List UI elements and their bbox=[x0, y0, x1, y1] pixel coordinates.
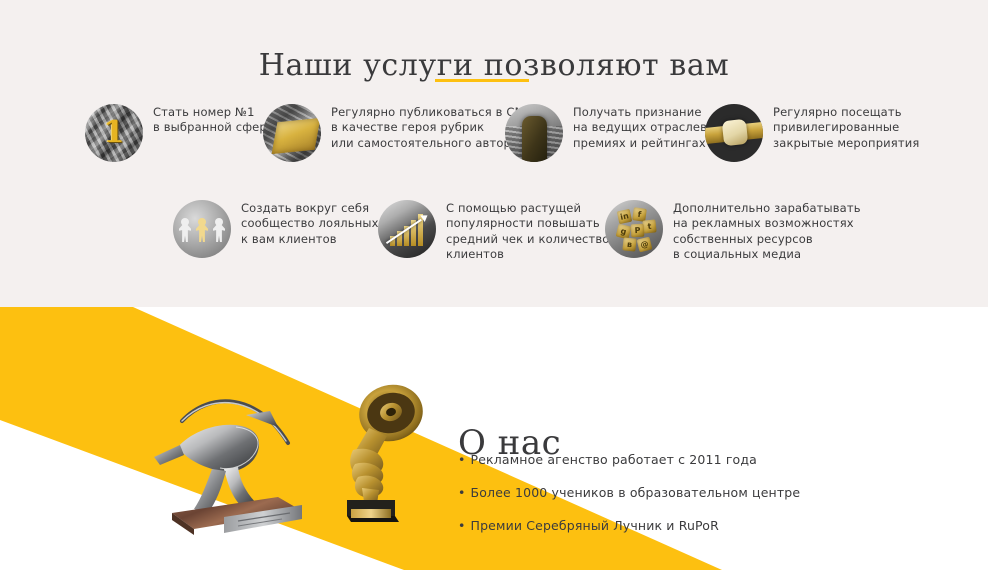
paper-person-center bbox=[196, 218, 208, 242]
bullet-marker: • bbox=[458, 452, 466, 467]
paper-people-community-icon bbox=[173, 200, 231, 258]
service-line: С помощью растущей bbox=[446, 201, 609, 216]
service-line: Стать номер №1 bbox=[153, 105, 274, 120]
service-item-5-text: Создать вокруг себя сообщество лояльных … bbox=[241, 200, 379, 247]
paper-person-left bbox=[179, 218, 191, 242]
list-item-text: Рекламное агенство работает с 2011 года bbox=[471, 452, 757, 467]
list-item-text: Премии Серебряный Лучник и RuPoR bbox=[471, 518, 719, 533]
service-item-2[interactable]: Регулярно публиковаться в СМИ: в качеств… bbox=[263, 104, 537, 162]
list-item: •Более 1000 учеников в образовательном ц… bbox=[458, 485, 928, 500]
paper-person-right bbox=[213, 218, 225, 242]
service-item-1[interactable]: 1 Стать номер №1 в выбранной сфере bbox=[85, 104, 274, 162]
service-line: в социальных медиа bbox=[673, 247, 861, 262]
bullet-marker: • bbox=[458, 518, 466, 533]
service-item-5[interactable]: Создать вокруг себя сообщество лояльных … bbox=[173, 200, 379, 258]
services-section: Наши услуги позволяют вам 1 Стать номер … bbox=[0, 0, 988, 307]
service-line: премиях и рейтингах bbox=[573, 136, 723, 151]
gold-watch-icon bbox=[705, 104, 763, 162]
slide-root: Наши услуги позволяют вам 1 Стать номер … bbox=[0, 0, 988, 570]
award-ceremony-man-icon bbox=[505, 104, 563, 162]
services-row-1: 1 Стать номер №1 в выбранной сфере Регул… bbox=[0, 104, 988, 166]
service-item-7[interactable]: inft gPв @ Дополнительно зарабатывать на… bbox=[605, 200, 861, 263]
service-line: Регулярно посещать bbox=[773, 105, 919, 120]
service-item-4-text: Регулярно посещать привилегированные зак… bbox=[773, 104, 919, 151]
services-row-2: Создать вокруг себя сообщество лояльных … bbox=[0, 200, 988, 275]
service-line: на ведущих отраслевых bbox=[573, 120, 723, 135]
title-underline-accent bbox=[435, 79, 529, 82]
numeral-one-glyph: 1 bbox=[104, 115, 125, 150]
newspapers-press-icon bbox=[263, 104, 321, 162]
service-line: Получать признание bbox=[573, 105, 723, 120]
service-line: средний чек и количество bbox=[446, 232, 609, 247]
letterpress-number-one-icon: 1 bbox=[85, 104, 143, 162]
list-item: •Рекламное агенство работает с 2011 года bbox=[458, 452, 928, 467]
service-line: в выбранной сфере bbox=[153, 120, 274, 135]
service-line: закрытые мероприятия bbox=[773, 136, 919, 151]
service-line: Создать вокруг себя bbox=[241, 201, 379, 216]
service-line: сообщество лояльных bbox=[241, 216, 379, 231]
growth-chart-icon bbox=[378, 200, 436, 258]
service-item-3-text: Получать признание на ведущих отраслевых… bbox=[573, 104, 723, 151]
service-item-1-text: Стать номер №1 в выбранной сфере bbox=[153, 104, 274, 136]
service-item-7-text: Дополнительно зарабатывать на рекламных … bbox=[673, 200, 861, 263]
service-line: привилегированные bbox=[773, 120, 919, 135]
list-item: •Премии Серебряный Лучник и RuPoR bbox=[458, 518, 928, 533]
social-media-cubes-icon: inft gPв @ bbox=[605, 200, 663, 258]
service-line: к вам клиентов bbox=[241, 232, 379, 247]
service-item-3[interactable]: Получать признание на ведущих отраслевых… bbox=[505, 104, 723, 162]
service-item-6[interactable]: С помощью растущей популярности повышать… bbox=[378, 200, 609, 263]
service-item-4[interactable]: Регулярно посещать привилегированные зак… bbox=[705, 104, 919, 162]
list-item-text: Более 1000 учеников в образовательном це… bbox=[471, 485, 801, 500]
page-title: Наши услуги позволяют вам bbox=[0, 48, 988, 83]
service-line: Дополнительно зарабатывать bbox=[673, 201, 861, 216]
bullet-marker: • bbox=[458, 485, 466, 500]
service-line: клиентов bbox=[446, 247, 609, 262]
service-line: популярности повышать bbox=[446, 216, 609, 231]
about-bullet-list: •Рекламное агенство работает с 2011 года… bbox=[458, 452, 928, 551]
silver-archer-trophy bbox=[150, 385, 335, 535]
service-line: на рекламных возможностях bbox=[673, 216, 861, 231]
service-item-6-text: С помощью растущей популярности повышать… bbox=[446, 200, 609, 263]
service-line: собственных ресурсов bbox=[673, 232, 861, 247]
rupor-megaphone-trophy bbox=[333, 378, 438, 526]
